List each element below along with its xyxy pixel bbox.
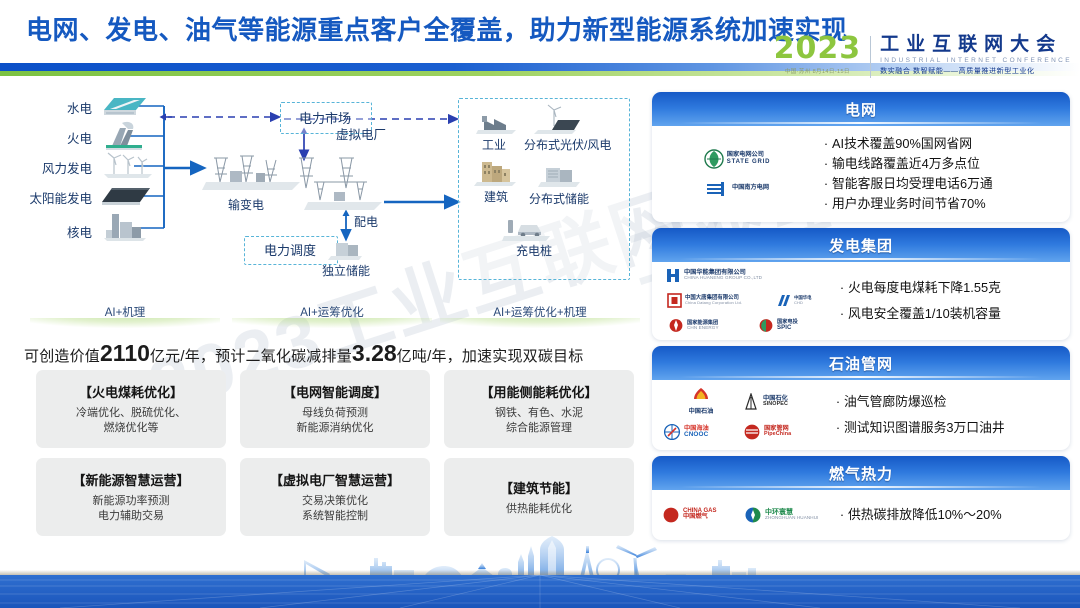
section-header-power-grid: 电网 xyxy=(652,92,1070,126)
scenario-card-vpp-ops[interactable]: 【虚拟电厂智慧运营】 交易决策优化 系统智能控制 xyxy=(240,458,430,536)
kpi-value-co2: 3.28 xyxy=(352,340,397,366)
section-power-generation: 发电集团 中国华能集团有限公司 CHINA HUANENG GROUP CO.,… xyxy=(652,228,1070,340)
kpi-statement: 可创造价值2110亿元/年，预计二氧化碳减排量3.28亿吨/年，加速实现双碳目标 xyxy=(24,340,636,367)
logo-name-en: CHINA HUANENG GROUP CO.,LTD xyxy=(684,276,762,281)
section-body-power-generation: 中国华能集团有限公司 CHINA HUANENG GROUP CO.,LTD xyxy=(652,262,1070,340)
scenario-cards-row-2: 【新能源智慧运营】 新能源功率预测 电力辅助交易 【虚拟电厂智慧运营】 交易决策… xyxy=(36,458,636,536)
section-body-gas-heating: CHINA GAS 中国燃气 中环 xyxy=(652,490,1070,540)
section-header-rule xyxy=(680,486,1042,488)
bullet-dot: · xyxy=(820,134,832,154)
logo-text: 国家管网 PipeChina xyxy=(764,426,791,438)
demand-label-distributed-storage: 分布式储能 xyxy=(529,190,589,207)
demand-label-building: 建筑 xyxy=(484,188,508,205)
building-icon xyxy=(474,158,522,188)
bullet-text: 油气管廊防爆巡检 xyxy=(844,389,946,415)
logo-name-en: ZHONGHUAN HUANHUI xyxy=(765,516,819,521)
scenario-cards-row-1: 【火电煤耗优化】 冷端优化、脱硫优化、 燃烧优化等 【电网智能调度】 母线负荷预… xyxy=(36,370,636,448)
scenario-card-line: 供热能耗优化 xyxy=(506,502,572,517)
scenario-card-line: 交易决策优化 xyxy=(302,494,368,509)
logo-petrochina: 中国石油 xyxy=(664,387,738,417)
section-header-rule xyxy=(680,376,1042,378)
petrochina-logo-icon xyxy=(691,387,711,405)
bullet-dot: · xyxy=(832,415,844,441)
scenario-card-line: 母线负荷预测 xyxy=(302,406,368,421)
logo-name-en: CHD xyxy=(794,301,812,305)
bullet-item: ·AI技术覆盖90%国网省网 xyxy=(820,134,1060,154)
section-body-oil-pipeline: 中国石油 中国石化 SINOPEC xyxy=(652,380,1070,450)
scenario-card-line: 综合能源管理 xyxy=(506,421,572,436)
bullet-text: 智能客服日均受理电话6万通 xyxy=(832,174,993,194)
scenario-card-title: 【新能源智慧运营】 xyxy=(72,470,189,489)
section-logos: 中国华能集团有限公司 CHINA HUANENG GROUP CO.,LTD xyxy=(662,266,828,336)
source-label-solar: 太阳能发电 xyxy=(8,188,92,207)
logo-name-en: CHN ENERGY xyxy=(687,326,719,331)
ev-charger-icon xyxy=(502,212,558,242)
footer-perspective-grid xyxy=(0,575,1080,608)
logo-name-en: SPIC xyxy=(777,325,798,331)
logo-zhonghuan-huanhui: 中环寰慧 ZHONGHUAN HUANHUI xyxy=(744,505,828,525)
logo-name-en: China Datang Corporation Ltd. xyxy=(685,301,742,305)
cnooc-logo-icon xyxy=(663,423,681,441)
logo-text: 中国海油 CNOOC xyxy=(684,426,709,439)
scenario-cards: 【火电煤耗优化】 冷端优化、脱硫优化、 燃烧优化等 【电网智能调度】 母线负荷预… xyxy=(36,370,636,546)
section-title: 石油管网 xyxy=(829,353,893,374)
logo-huaneng: 中国华能集团有限公司 CHINA HUANENG GROUP CO.,LTD xyxy=(665,266,825,286)
section-power-grid: 电网 国家电网公司 xyxy=(652,92,1070,222)
scenario-card-thermal-coal[interactable]: 【火电煤耗优化】 冷端优化、脱硫优化、 燃烧优化等 xyxy=(36,370,226,448)
scenario-card-line: 新能源消纳优化 xyxy=(297,421,374,436)
section-oil-pipeline: 石油管网 中国石油 xyxy=(652,346,1070,450)
scenario-card-line: 燃烧优化等 xyxy=(104,421,159,436)
swoosh-arc-3 xyxy=(440,318,640,336)
bullet-dot: · xyxy=(836,301,848,327)
section-bullets-power-generation: ·火电每度电煤耗下降1.55克 ·风电安全覆盖1/10装机容量 xyxy=(828,275,1060,327)
logo-name-en: CNOOC xyxy=(684,432,709,438)
section-gas-heating: 燃气热力 CHINA GAS 中国燃气 xyxy=(652,456,1070,540)
pipechina-logo-icon xyxy=(743,423,761,441)
demand-label-distributed-pv-wind: 分布式光伏/风电 xyxy=(524,136,611,153)
bullet-text: 火电每度电煤耗下降1.55克 xyxy=(848,275,1001,301)
bullet-text: AI技术覆盖90%国网省网 xyxy=(832,134,972,154)
section-header-oil-pipeline: 石油管网 xyxy=(652,346,1070,380)
scenario-card-line: 电力辅助交易 xyxy=(98,509,164,524)
bullet-text: 风电安全覆盖1/10装机容量 xyxy=(848,301,1001,327)
sinopec-logo-icon xyxy=(742,393,760,411)
logo-spic: 国家电投 SPIC xyxy=(758,316,822,336)
scenario-card-title: 【建筑节能】 xyxy=(500,478,578,497)
bullet-dot: · xyxy=(820,194,832,214)
logo-divider xyxy=(870,36,871,78)
logo-name-en: SINOPEC xyxy=(763,402,788,407)
scenario-card-title: 【电网智能调度】 xyxy=(283,382,387,401)
section-logos: CHINA GAS 中国燃气 中环 xyxy=(662,505,828,525)
bullet-dot: · xyxy=(832,389,844,415)
section-bullets-gas-heating: ·供热碳排放降低10%～20% xyxy=(828,499,1060,531)
distributed-storage-icon xyxy=(538,162,588,190)
scenario-card-title: 【虚拟电厂智慧运营】 xyxy=(270,470,400,489)
section-header-gas-heating: 燃气热力 xyxy=(652,456,1070,490)
hydro-plant-icon xyxy=(100,92,148,118)
wind-farm-icon xyxy=(102,150,154,180)
bullet-dot: · xyxy=(836,275,848,301)
bullet-item: ·火电每度电煤耗下降1.55克 xyxy=(836,275,1060,301)
logo-text: 中国华电 CHD xyxy=(794,296,812,304)
bullet-item: ·用户办理业务时间节省70% xyxy=(820,194,1060,214)
distribution-icon xyxy=(304,170,388,216)
vpp-label: 虚拟电厂 xyxy=(336,124,386,143)
logo-text: 国家电网公司 STATE GRID xyxy=(727,152,770,164)
scenario-card-title: 【火电煤耗优化】 xyxy=(79,382,183,401)
nuclear-plant-icon xyxy=(102,210,152,244)
conference-name-cn: 工业互联网大会 xyxy=(880,34,1072,55)
footer-grid-band xyxy=(0,575,1080,608)
section-header-rule xyxy=(680,122,1042,124)
bullet-item: ·测试知识图谱服务3万口油井 xyxy=(832,415,1060,441)
demand-label-ev-charger: 充电桩 xyxy=(516,242,552,259)
scenario-card-new-energy-ops[interactable]: 【新能源智慧运营】 新能源功率预测 电力辅助交易 xyxy=(36,458,226,536)
section-logos: 国家电网公司 STATE GRID xyxy=(662,149,812,199)
section-logos: 中国石油 中国石化 SINOPEC xyxy=(662,387,824,442)
swoosh-arc-1 xyxy=(30,318,220,336)
logo-text: 国家电投 SPIC xyxy=(777,320,798,331)
kpi-prefix: 可创造价值 xyxy=(24,348,100,365)
logo-cnooc: 中国海油 CNOOC xyxy=(663,422,739,442)
kpi-value-revenue: 2110 xyxy=(100,340,150,366)
section-title: 燃气热力 xyxy=(829,463,893,484)
logo-text: 中国大唐集团有限公司 China Datang Corporation Ltd. xyxy=(685,296,742,305)
distributed-pv-wind-icon xyxy=(532,104,586,136)
source-label-hydro: 水电 xyxy=(24,98,92,117)
bullet-dot: · xyxy=(820,154,832,174)
logo-text: CHINA GAS 中国燃气 xyxy=(683,508,716,520)
thermal-plant-icon xyxy=(102,120,150,150)
scenario-card-demand-side[interactable]: 【用能侧能耗优化】 钢铁、有色、水泥 综合能源管理 xyxy=(444,370,634,448)
conference-logo: 2023 中国·苏州 8月14日-15日 工业互联网大会 INDUSTRIAL … xyxy=(774,34,1072,80)
demand-label-industry: 工业 xyxy=(482,136,506,153)
logo-chd: 中国华电 CHD xyxy=(775,291,823,311)
page-title: 电网、发电、油气等能源重点客户全覆盖，助力新型能源系统加速实现 xyxy=(26,10,848,47)
logo-sinopec: 中国石化 SINOPEC xyxy=(742,392,822,412)
logo-name-en: STATE GRID xyxy=(727,159,770,165)
china-southern-power-grid-logo-icon xyxy=(705,179,729,199)
conference-year: 2023 xyxy=(774,34,862,64)
logo-name-cn: 中国燃气 xyxy=(683,514,716,520)
conference-slogan: 数实融合 数智赋能——高质量推进新型工业化 xyxy=(880,66,1072,76)
source-label-wind: 风力发电 xyxy=(16,158,92,177)
bullet-text: 输电线路覆盖近4万多点位 xyxy=(832,154,980,174)
kpi-mid-1: 亿元/年，预计二氧化碳减排量 xyxy=(150,348,352,365)
left-content: 水电 火电 风力发电 xyxy=(16,92,642,532)
datang-logo-icon xyxy=(667,293,682,308)
bullet-item: ·供热碳排放降低10%～20% xyxy=(836,499,1060,531)
logo-text: 中国南方电网 xyxy=(732,185,769,191)
logo-text: 中国石化 SINOPEC xyxy=(763,396,788,408)
chd-logo-icon xyxy=(775,293,791,308)
section-header-power-generation: 发电集团 xyxy=(652,228,1070,262)
energy-flow-diagram: 水电 火电 风力发电 xyxy=(16,92,642,302)
bullet-dot: · xyxy=(836,499,848,531)
source-label-thermal: 火电 xyxy=(24,128,92,147)
transmission-label: 输变电 xyxy=(228,196,264,213)
scenario-card-line: 新能源功率预测 xyxy=(93,494,170,509)
logo-name-en: PipeChina xyxy=(764,432,791,437)
bullet-item: ·风电安全覆盖1/10装机容量 xyxy=(836,301,1060,327)
slide-footer xyxy=(0,536,1080,608)
spic-logo-icon xyxy=(758,318,774,333)
scenario-card-grid-dispatch[interactable]: 【电网智能调度】 母线负荷预测 新能源消纳优化 xyxy=(240,370,430,448)
logo-china-gas: CHINA GAS 中国燃气 xyxy=(662,505,740,525)
zhonghuan-huanhui-logo-icon xyxy=(744,506,762,524)
scenario-card-line: 钢铁、有色、水泥 xyxy=(495,406,583,421)
swoosh-ai-optimization-mechanism: AI+运筹优化+机理 xyxy=(440,304,640,338)
logo-name-cn: 中国南方电网 xyxy=(732,185,769,191)
swoosh-arc-2 xyxy=(232,318,432,336)
bullet-text: 测试知识图谱服务3万口油井 xyxy=(844,415,1005,441)
conference-name-en: INDUSTRIAL INTERNET CONFERENCE xyxy=(880,57,1072,64)
kpi-mid-2: 亿吨/年，加速实现双碳目标 xyxy=(397,348,584,365)
swoosh-ai-mechanism: AI+机理 xyxy=(30,304,220,338)
logo-text: 中国华能集团有限公司 CHINA HUANENG GROUP CO.,LTD xyxy=(684,270,762,281)
section-header-rule xyxy=(680,258,1042,260)
bullet-item: ·油气管廊防爆巡检 xyxy=(832,389,1060,415)
dispatch-node-label: 电力调度 xyxy=(244,236,336,263)
scenario-card-line: 冷端优化、脱硫优化、 xyxy=(76,406,186,421)
independent-storage-icon xyxy=(328,237,368,263)
bullet-text: 供热碳排放降低10%～20% xyxy=(848,499,1002,531)
slide-root: 电网、发电、油气等能源重点客户全覆盖，助力新型能源系统加速实现 2023 中国·… xyxy=(0,0,1080,608)
conference-date: 中国·苏州 8月14日-15日 xyxy=(785,67,850,75)
logo-state-grid: 国家电网公司 STATE GRID xyxy=(704,149,770,169)
industry-sections: 电网 国家电网公司 xyxy=(652,92,1070,540)
scenario-card-line: 系统智能控制 xyxy=(302,509,368,524)
swoosh-ai-optimization: AI+运筹优化 xyxy=(232,304,432,338)
section-bullets-power-grid: ·AI技术覆盖90%国网省网 ·输电线路覆盖近4万多点位 ·智能客服日均受理电话… xyxy=(812,134,1060,214)
huaneng-logo-icon xyxy=(665,268,681,283)
bullet-dot: · xyxy=(820,174,832,194)
logo-text: 中环寰慧 ZHONGHUAN HUANHUI xyxy=(765,509,819,521)
logo-text: 国家能源集团 CHN ENERGY xyxy=(687,321,719,331)
logo-china-southern-power-grid: 中国南方电网 xyxy=(705,179,769,199)
logo-name-cn: 中国石油 xyxy=(689,406,714,415)
bullet-item: ·智能客服日均受理电话6万通 xyxy=(820,174,1060,194)
section-title: 发电集团 xyxy=(829,235,893,256)
bullet-item: ·输电线路覆盖近4万多点位 xyxy=(820,154,1060,174)
slide-header: 电网、发电、油气等能源重点客户全覆盖，助力新型能源系统加速实现 2023 中国·… xyxy=(0,0,1080,92)
chn-energy-logo-icon xyxy=(668,318,684,333)
section-title: 电网 xyxy=(845,99,877,120)
solar-panel-icon xyxy=(100,184,152,208)
bullet-text: 用户办理业务时间节省70% xyxy=(832,194,986,214)
distribution-label: 配电 xyxy=(354,213,378,230)
logo-pipechina: 国家管网 PipeChina xyxy=(743,422,823,442)
factory-icon xyxy=(476,110,522,136)
conference-logo-text-block: 工业互联网大会 INDUSTRIAL INTERNET CONFERENCE 数… xyxy=(880,34,1072,76)
logo-datang: 中国大唐集团有限公司 China Datang Corporation Ltd. xyxy=(667,291,771,311)
independent-storage-label: 独立储能 xyxy=(322,262,370,279)
section-body-power-grid: 国家电网公司 STATE GRID xyxy=(652,126,1070,222)
china-gas-logo-icon xyxy=(662,506,680,524)
logo-chn-energy: 国家能源集团 CHN ENERGY xyxy=(668,316,754,336)
section-bullets-oil-pipeline: ·油气管廊防爆巡检 ·测试知识图谱服务3万口油井 xyxy=(824,389,1060,441)
scenario-card-building-efficiency[interactable]: 【建筑节能】 供热能耗优化 xyxy=(444,458,634,536)
state-grid-logo-icon xyxy=(704,149,724,169)
conference-logo-year-block: 2023 中国·苏州 8月14日-15日 xyxy=(774,34,871,75)
scenario-card-title: 【用能侧能耗优化】 xyxy=(480,382,597,401)
source-label-nuclear: 核电 xyxy=(24,222,92,241)
